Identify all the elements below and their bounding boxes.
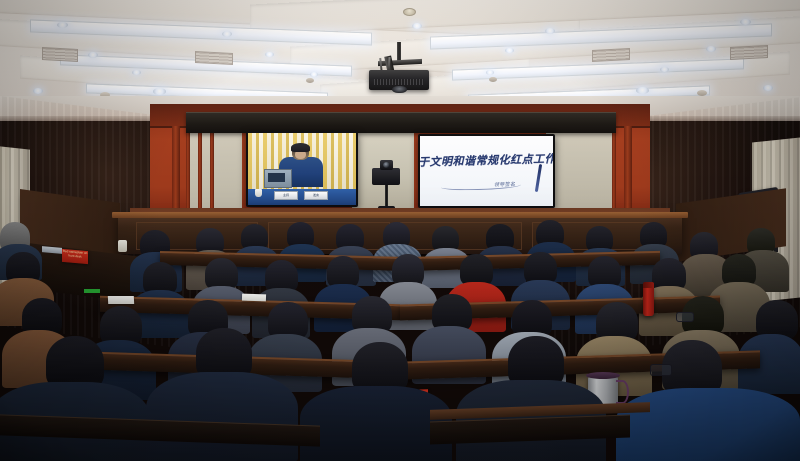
projector-lens-icon bbox=[392, 86, 407, 93]
slide-brush-stroke bbox=[534, 164, 541, 192]
downlight-icon bbox=[486, 70, 494, 75]
slide-calligraphy-title: 关于文明和谐常规化红点工作会 bbox=[420, 150, 553, 170]
wall-trim bbox=[198, 130, 202, 208]
conference-camera bbox=[372, 168, 400, 185]
projector-vents bbox=[374, 79, 424, 85]
video-feed-content: 主持 发言 bbox=[248, 133, 356, 205]
eyeglasses-icon bbox=[650, 364, 672, 376]
red-thermos bbox=[643, 286, 654, 316]
wall-trim bbox=[612, 130, 616, 208]
hvac-vent-icon bbox=[42, 47, 78, 62]
downlight-icon bbox=[545, 28, 555, 34]
paper-sheet bbox=[242, 294, 266, 302]
red-nameplate: Red nameplate on front desk bbox=[62, 249, 88, 264]
stage-valance-board bbox=[186, 112, 616, 133]
downlight-icon bbox=[706, 46, 716, 52]
slide-signature: 领导签名 bbox=[494, 180, 515, 188]
thermos-cap bbox=[643, 282, 654, 288]
downlight-icon bbox=[33, 88, 43, 94]
person-body bbox=[146, 372, 298, 461]
eyeglasses-icon bbox=[676, 312, 694, 322]
indicator-light bbox=[84, 289, 100, 293]
stage-backdrop-panel bbox=[546, 130, 616, 208]
downlight-icon bbox=[132, 70, 141, 75]
video-feed-screen[interactable]: 主持 发言 bbox=[246, 131, 358, 207]
downlight-icon bbox=[505, 48, 514, 53]
downlight-icon bbox=[763, 85, 773, 91]
feed-desk bbox=[248, 189, 356, 205]
camera-pole bbox=[385, 182, 388, 208]
ceiling-speaker-icon bbox=[306, 78, 314, 83]
downlight-icon bbox=[265, 52, 274, 57]
stage-backdrop-panel bbox=[186, 130, 242, 208]
downlight-icon bbox=[740, 19, 751, 25]
rostrum-top-edge bbox=[112, 212, 688, 218]
person-body-blue bbox=[616, 388, 800, 461]
downlight-icon bbox=[636, 87, 649, 94]
smoke-detector-icon bbox=[403, 8, 416, 16]
paper-cup bbox=[118, 240, 127, 252]
wall-trim bbox=[624, 126, 632, 210]
feed-laptop-screen bbox=[268, 173, 285, 182]
downlight-icon bbox=[660, 67, 669, 72]
downlight-icon bbox=[412, 23, 422, 29]
downlight-icon bbox=[57, 22, 68, 28]
paper-sheet bbox=[108, 296, 134, 304]
mug-lid bbox=[586, 372, 620, 379]
wall-trim bbox=[186, 130, 190, 208]
hvac-vent-icon bbox=[195, 51, 233, 65]
downlight-icon bbox=[222, 31, 232, 37]
slide-content: 关于文明和谐常规化红点工作会 领导签名 bbox=[420, 136, 553, 206]
ceiling-speaker-icon bbox=[489, 77, 497, 82]
feed-cup bbox=[255, 189, 262, 197]
slide-screen[interactable]: 关于文明和谐常规化红点工作会 领导签名 bbox=[418, 134, 555, 208]
wall-trim bbox=[172, 126, 180, 210]
feed-nameplate-left: 主持 bbox=[274, 191, 298, 200]
hvac-vent-icon bbox=[730, 45, 768, 60]
feed-nameplate-right: 发言 bbox=[304, 191, 328, 200]
mug-handle bbox=[616, 380, 629, 404]
camera-lens-icon bbox=[383, 162, 390, 168]
downlight-icon bbox=[88, 52, 98, 58]
meeting-room-photo: 主持 发言 关于文明和谐常规化红点工作会 领导签名 Red nameplate … bbox=[0, 0, 800, 461]
wall-trim bbox=[210, 130, 214, 208]
downlight-icon bbox=[310, 72, 318, 77]
feed-speaker-hair bbox=[291, 143, 310, 152]
hvac-vent-icon bbox=[592, 48, 630, 62]
downlight-icon bbox=[153, 88, 166, 95]
